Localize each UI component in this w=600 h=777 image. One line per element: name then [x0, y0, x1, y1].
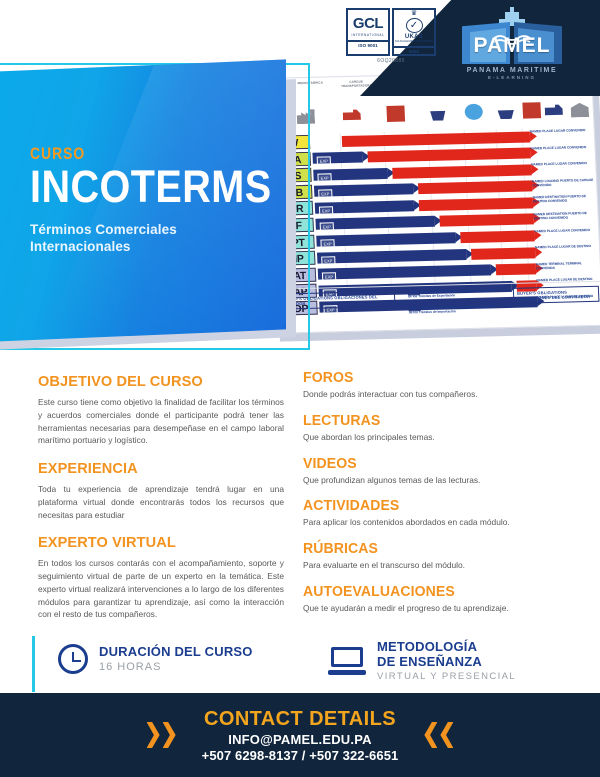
sea-icon	[464, 104, 483, 120]
chart-paper: MEDIO FABRICA CARGUE TRANSPORTADORA ALON…	[262, 70, 600, 334]
ship-icon	[428, 104, 447, 120]
cert-code: 6OQ20885	[346, 58, 436, 64]
buyer-obligation-bar	[419, 197, 533, 211]
feature-body: Para evaluarte en el transcurso del módu…	[303, 560, 585, 572]
hero-subtitle-line1: Términos Comerciales	[30, 222, 286, 238]
duration-title: DURACIÓN DEL CURSO	[99, 645, 253, 660]
buyer-obligation-bar	[367, 148, 531, 163]
feature-body: Para aplicar los contenidos abordados en…	[303, 517, 585, 529]
gcl-standard: ISO 9001	[348, 40, 388, 48]
buyer-obligation-bar	[392, 164, 531, 178]
info-strip: DURACIÓN DEL CURSO 16 HORAS METODOLOGÍA …	[0, 636, 600, 692]
method-title-2: DE ENSEÑANZA	[377, 655, 516, 670]
chart-row-note: NAMED LOADING PUERTO DE CARGUE CONVENIDO	[532, 178, 594, 188]
feature-body: Que abordan los principales temas.	[303, 432, 585, 444]
gcl-sub: INTERNATIONAL	[351, 33, 384, 37]
buyer-legend-title: BUYER'S OBLIGATIONS OBLIGACIONES DEL COM…	[517, 289, 595, 301]
buyer-obligation-bar	[341, 131, 530, 147]
feature-block: VIDEOSQue profundizan algunos temas de l…	[303, 456, 585, 487]
method-sub: VIRTUAL Y PRESENCIAL	[377, 671, 516, 682]
exp-chip: EXP	[322, 272, 336, 281]
chart-row-note: NAMED TERMINAL TERMINAL CONVENIDA	[536, 261, 598, 271]
page-title: INCOTERMS	[30, 165, 255, 209]
exp-chip: EXP	[317, 173, 331, 182]
feature-body: Que profundizan algunos temas de las lec…	[303, 475, 585, 487]
section-block: EXPERTO VIRTUALEn todos los cursos conta…	[38, 534, 284, 621]
incoterms-chart: MEDIO FABRICA CARGUE TRANSPORTADORA ALON…	[262, 70, 600, 340]
footer-title: CONTACT DETAILS	[202, 708, 399, 731]
chart-row-note: NAMED PLACE LUGAR CONVENIDO	[531, 161, 593, 167]
feature-heading: VIDEOS	[303, 456, 577, 472]
feature-heading: LECTURAS	[303, 413, 577, 429]
section-body: Toda tu experiencia de aprendizaje tendr…	[38, 483, 284, 521]
section-heading: EXPERTO VIRTUAL	[38, 534, 277, 551]
exp-chip: EXP	[318, 190, 332, 199]
chevron-right-icon	[147, 722, 176, 748]
feature-block: RÚBRICASPara evaluarte en el transcurso …	[303, 541, 585, 572]
feature-block: FOROSDonde podrás interactuar con tus co…	[303, 370, 585, 401]
seller-obligation-bar: EXP	[314, 184, 414, 197]
methodology-info: METODOLOGÍA DE ENSEÑANZA VIRTUAL Y PRESE…	[328, 640, 516, 682]
certification-badge: GCL INTERNATIONAL ISO 9001 ♛ ✓ UKAS MANA…	[346, 8, 436, 64]
crown-icon: ♛	[411, 10, 417, 17]
buyer-obligation-bar	[439, 214, 534, 227]
exp-legend-text: Responsible for Export Clearance / Respo…	[408, 288, 495, 298]
poster-page: MEDIO FABRICA CARGUE TRANSPORTADORA ALON…	[0, 0, 600, 777]
buyer-obligation-bar	[496, 264, 536, 276]
chevron-left-icon	[424, 722, 453, 748]
section-block: OBJETIVO DEL CURSOEste curso tiene como …	[38, 373, 284, 447]
feature-block: AUTOEVALUACIONESQue te ayudarán a medir …	[303, 584, 585, 615]
pamel-logo-mark: PAMEL	[452, 8, 572, 66]
section-body: En todos los cursos contarás con el acom…	[38, 557, 284, 621]
truck-icon	[342, 107, 361, 123]
pamel-tagline: PANAMA MARITIME	[452, 67, 572, 74]
pamel-logo: PAMEL PANAMA MARITIME E-LEARNING	[452, 8, 572, 90]
warehouse-icon	[570, 101, 589, 117]
chart-row-note: NAMED DESTINATION PUERTO DE DESTINO CONV…	[533, 211, 595, 221]
seller-obligation-bar: EXP	[313, 168, 388, 181]
gcl-badge: GCL INTERNATIONAL ISO 9001	[346, 8, 390, 56]
cyan-rule	[32, 636, 35, 692]
left-column: OBJETIVO DEL CURSOEste curso tiene como …	[38, 373, 284, 634]
seller-obligation-bar: EXP	[317, 249, 466, 264]
chart-row-note: NAMED PLACE LUGAR CONVENIDO	[530, 145, 592, 151]
laptop-icon	[328, 647, 366, 675]
chart-row-note: NAMED PLACE LUGAR DE DESTINO	[535, 244, 597, 250]
feature-heading: RÚBRICAS	[303, 541, 577, 557]
section-block: EXPERIENCIAToda tu experiencia de aprend…	[38, 460, 284, 521]
buyer-obligation-bar	[460, 230, 535, 243]
pamel-wordmark: PAMEL	[452, 34, 572, 58]
chart-row-note: NAMED PLACE LUGAR CONVENIDO	[534, 227, 596, 233]
exp-chip: EXP	[319, 206, 333, 215]
exp-chip: EXP	[321, 256, 335, 265]
terminal-icon	[522, 102, 541, 118]
imp-legend-text: Responsible for Import Clearance / Respo…	[409, 304, 495, 314]
check-icon: ✓	[406, 18, 423, 33]
ukas-sub: MANAGEMENT SYSTEMS	[395, 40, 433, 43]
right-column: FOROSDonde podrás interactuar con tus co…	[303, 370, 585, 627]
feature-body: Que te ayudarán a medir el progreso de t…	[303, 603, 585, 615]
duration-value: 16 HORAS	[99, 661, 253, 673]
buyer-obligation-bar	[418, 181, 532, 195]
feature-heading: ACTIVIDADES	[303, 498, 577, 514]
footer-contact-bar: CONTACT DETAILS INFO@PAMEL.EDU.PA +507 6…	[0, 693, 600, 777]
seller-obligation-bar: EXP	[316, 232, 455, 246]
chart-row-note: NAMED PLACE LUGAR CONVENIDO	[530, 128, 592, 134]
seller-obligation-bar: EXP	[312, 152, 362, 164]
buyer-obligation-bar	[471, 247, 536, 260]
exp-chip: EXP	[320, 239, 334, 248]
clock-icon	[58, 644, 88, 674]
feature-body: Donde podrás interactuar con tus compañe…	[303, 389, 585, 401]
delivery-truck-icon	[544, 102, 563, 118]
seller-obligation-bar: EXP	[315, 200, 415, 213]
ukas-badge: ♛ ✓ UKAS MANAGEMENT SYSTEMS 5965	[392, 8, 436, 56]
section-heading: OBJETIVO DEL CURSO	[38, 373, 277, 390]
feature-heading: FOROS	[303, 370, 577, 386]
pamel-tagline-2: E-LEARNING	[452, 75, 572, 80]
barge-icon	[496, 103, 515, 119]
footer-phone[interactable]: +507 6298-8137 / +507 322-6651	[202, 748, 399, 763]
feature-block: LECTURASQue abordan los principales tema…	[303, 413, 585, 444]
hero-subtitle-line2: Internacionales	[30, 239, 286, 255]
chart-legend: SELLER'S OBLIGATIONS OBLIGACIONES DEL VE…	[273, 281, 600, 333]
chart-row-note: NAMED DESTINATION PUERTO DE DESTINO CONV…	[533, 194, 595, 204]
feature-block: ACTIVIDADESPara aplicar los contenidos a…	[303, 498, 585, 529]
seller-obligation-bar: EXP	[318, 265, 492, 280]
exp-chip: EXP	[317, 156, 331, 165]
hero-subtitle: Términos Comerciales Internacionales	[30, 222, 286, 255]
section-body: Este curso tiene como objetivo la finali…	[38, 396, 284, 447]
container-icon	[386, 106, 405, 122]
gcl-name: GCL	[353, 16, 383, 31]
section-heading: EXPERIENCIA	[38, 460, 277, 477]
exp-chip: EXP	[320, 223, 334, 232]
seller-obligation-bar: EXP	[315, 216, 434, 230]
hero-panel: CURSO INCOTERMS Términos Comerciales Int…	[0, 59, 286, 342]
footer-email[interactable]: INFO@PAMEL.EDU.PA	[202, 732, 399, 747]
feature-heading: AUTOEVALUACIONES	[303, 584, 577, 600]
method-title-1: METODOLOGÍA	[377, 640, 516, 655]
ukas-number: 5965	[394, 46, 434, 54]
duration-info: DURACIÓN DEL CURSO 16 HORAS	[58, 644, 253, 674]
